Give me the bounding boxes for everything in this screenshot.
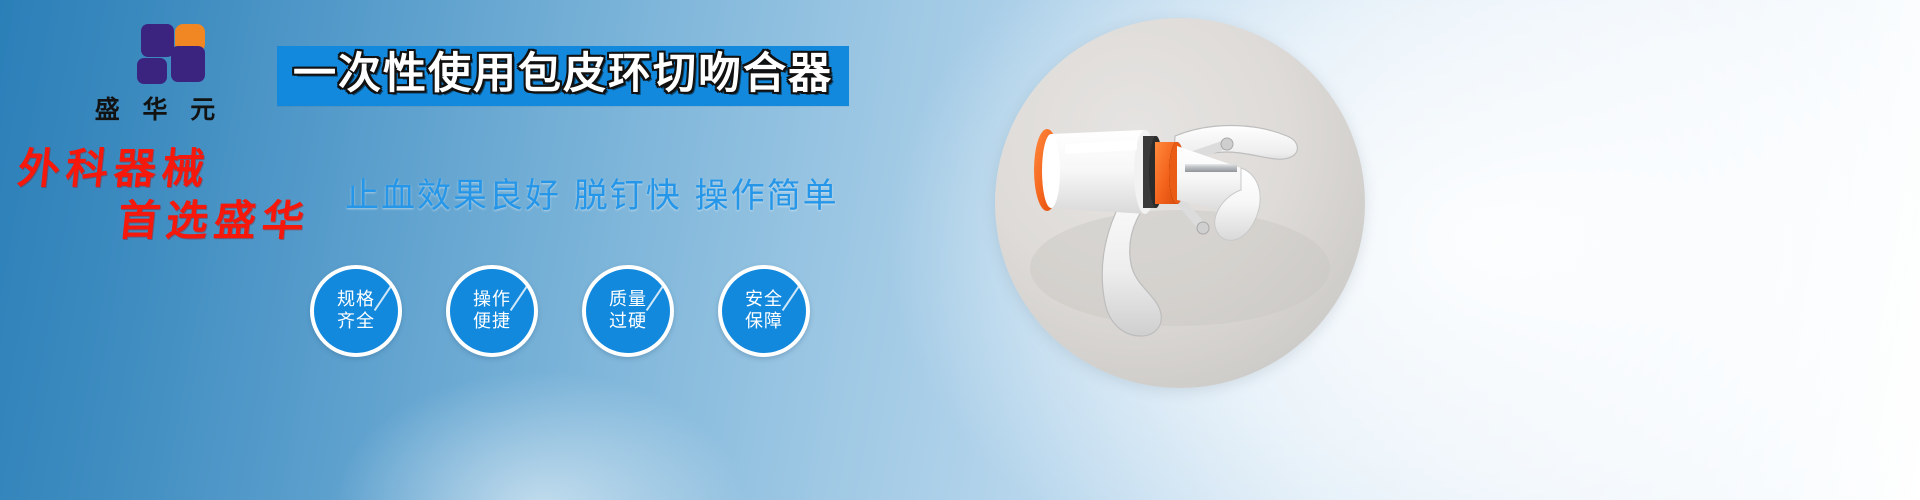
brand-name: 盛 华 元 — [70, 90, 240, 126]
badge-line-1: 操作 — [473, 289, 511, 311]
slogan-calligraphy: 外科器械 首选盛华 — [18, 148, 348, 242]
slash-icon — [510, 285, 528, 311]
product-illustration — [995, 18, 1365, 388]
slash-icon — [646, 285, 664, 311]
slogan-line-1: 外科器械 — [16, 148, 350, 190]
product-title: 一次性使用包皮环切吻合器 — [293, 50, 833, 98]
feature-badge[interactable]: 规格 齐全 — [310, 265, 402, 357]
badge-line-1: 规格 — [337, 289, 375, 311]
metal-shaft — [1185, 164, 1237, 172]
feature-badge[interactable]: 操作 便捷 — [446, 265, 538, 357]
slash-icon — [374, 285, 392, 311]
feature-badge[interactable]: 安全 保障 — [718, 265, 810, 357]
product-image — [995, 18, 1365, 388]
badge-line-2: 便捷 — [473, 311, 511, 333]
background-glow — [330, 370, 750, 500]
badge-line-2: 齐全 — [337, 311, 375, 333]
promo-banner: 盛 华 元 外科器械 首选盛华 一次性使用包皮环切吻合器 止血效果良好 脱钉快 … — [0, 0, 1920, 500]
feature-badge[interactable]: 质量 过硬 — [582, 265, 674, 357]
product-title-banner: 一次性使用包皮环切吻合器 — [277, 46, 849, 106]
slash-icon — [782, 285, 800, 311]
logo-mark-icon — [119, 24, 191, 84]
badge-line-2: 保障 — [745, 311, 783, 333]
brand-logo: 盛 华 元 — [70, 24, 240, 126]
logo-block-top-left — [141, 24, 174, 57]
hinge-pin-lower — [1197, 222, 1209, 234]
feature-badge-list: 规格 齐全 操作 便捷 质量 过硬 安全 保障 — [310, 265, 810, 357]
badge-line-2: 过硬 — [609, 311, 647, 333]
logo-block-bottom-right — [171, 46, 205, 82]
product-subtitle: 止血效果良好 脱钉快 操作简单 — [345, 168, 839, 217]
slogan-line-2: 首选盛华 — [116, 200, 350, 242]
hinge-pin-upper — [1221, 138, 1233, 150]
badge-line-1: 安全 — [745, 289, 783, 311]
badge-line-1: 质量 — [609, 289, 647, 311]
logo-block-bottom-left — [137, 58, 167, 84]
body-front-cap — [1042, 134, 1060, 208]
